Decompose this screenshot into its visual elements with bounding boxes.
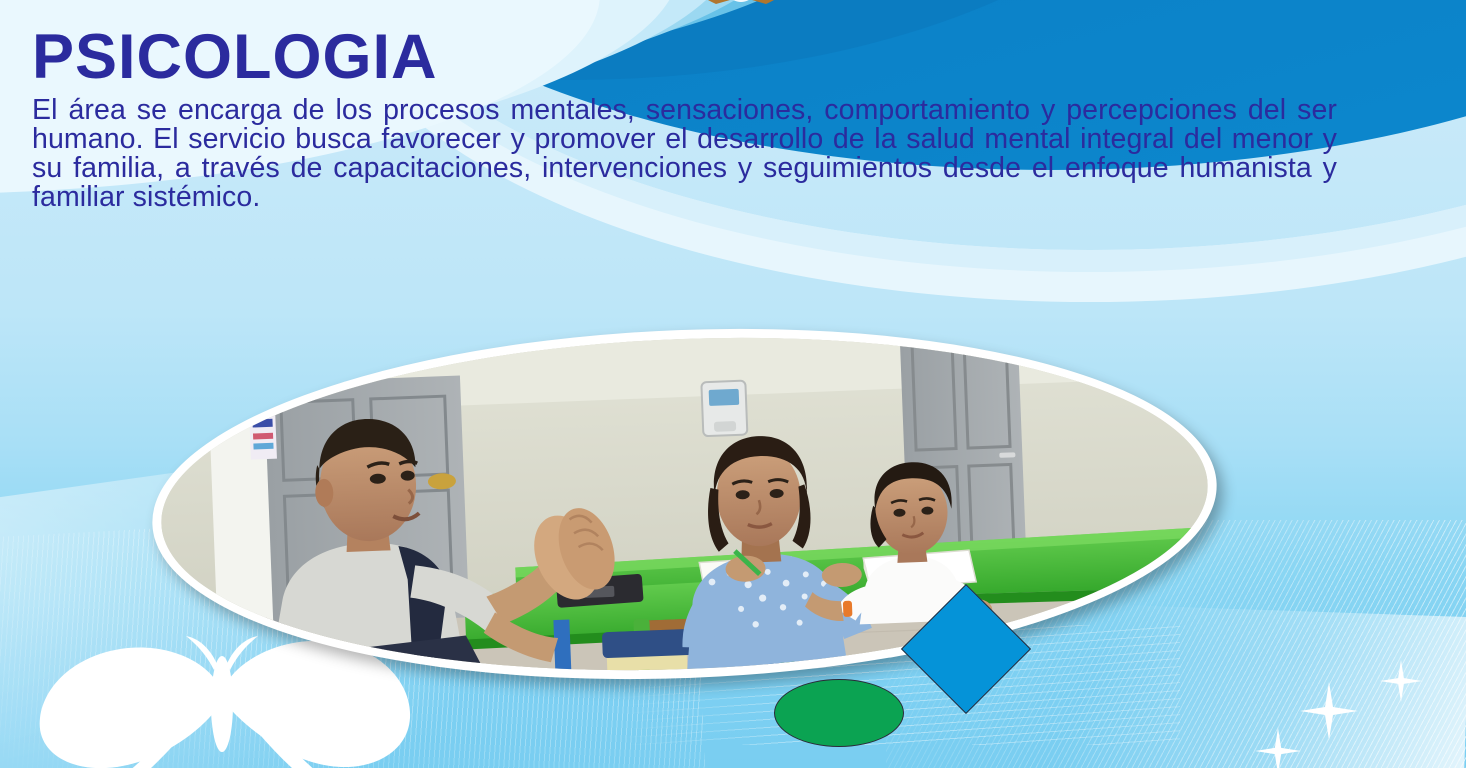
sparkle-icon-1 [1300,682,1358,740]
sparkle-icon-2 [1380,660,1422,702]
photo-oval-frame [146,310,1224,699]
slide-canvas: PSICOLOGIA El área se encarga de los pro… [0,0,1466,768]
description-paragraph: El área se encarga de los procesos menta… [32,96,1337,212]
page-title: PSICOLOGIA [32,26,438,89]
photo-oval-clip [155,319,1214,689]
sparkle-icon-3 [1255,728,1301,768]
description-text: El área se encarga de los procesos menta… [32,96,1337,212]
ribbon-fragment-icon [686,0,796,12]
psychology-session-photo [155,319,1214,689]
green-ellipse-accent [774,679,904,747]
